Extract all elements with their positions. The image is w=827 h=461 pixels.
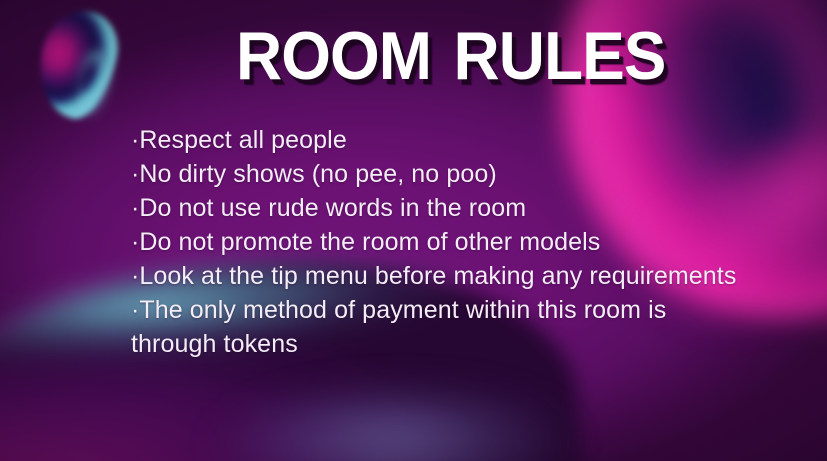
rule-text: No dirty shows (no pee, no poo) bbox=[139, 160, 496, 188]
rule-item-continuation: through tokens bbox=[131, 327, 791, 361]
rule-text: Look at the tip menu before making any r… bbox=[139, 262, 736, 290]
rule-text: The only method of payment within this r… bbox=[139, 296, 666, 324]
rule-text: Respect all people bbox=[139, 126, 347, 154]
rule-item: ·The only method of payment within this … bbox=[131, 293, 791, 327]
rule-item: ·Do not use rude words in the room bbox=[131, 191, 791, 225]
rule-text: Do not use rude words in the room bbox=[139, 194, 526, 222]
poster-title: ROOM RULES bbox=[236, 22, 665, 90]
rule-item: ·Do not promote the room of other models bbox=[131, 225, 791, 259]
rule-item: ·No dirty shows (no pee, no poo) bbox=[131, 157, 791, 191]
rule-item: ·Look at the tip menu before making any … bbox=[131, 259, 791, 293]
rule-text: Do not promote the room of other models bbox=[139, 228, 600, 256]
rule-item: ·Respect all people bbox=[131, 123, 791, 157]
room-rules-poster: ROOM RULES ·Respect all people ·No dirty… bbox=[0, 0, 827, 461]
poster-content: ROOM RULES ·Respect all people ·No dirty… bbox=[0, 0, 827, 461]
rules-list: ·Respect all people ·No dirty shows (no … bbox=[131, 123, 791, 361]
rule-text: through tokens bbox=[131, 330, 298, 358]
